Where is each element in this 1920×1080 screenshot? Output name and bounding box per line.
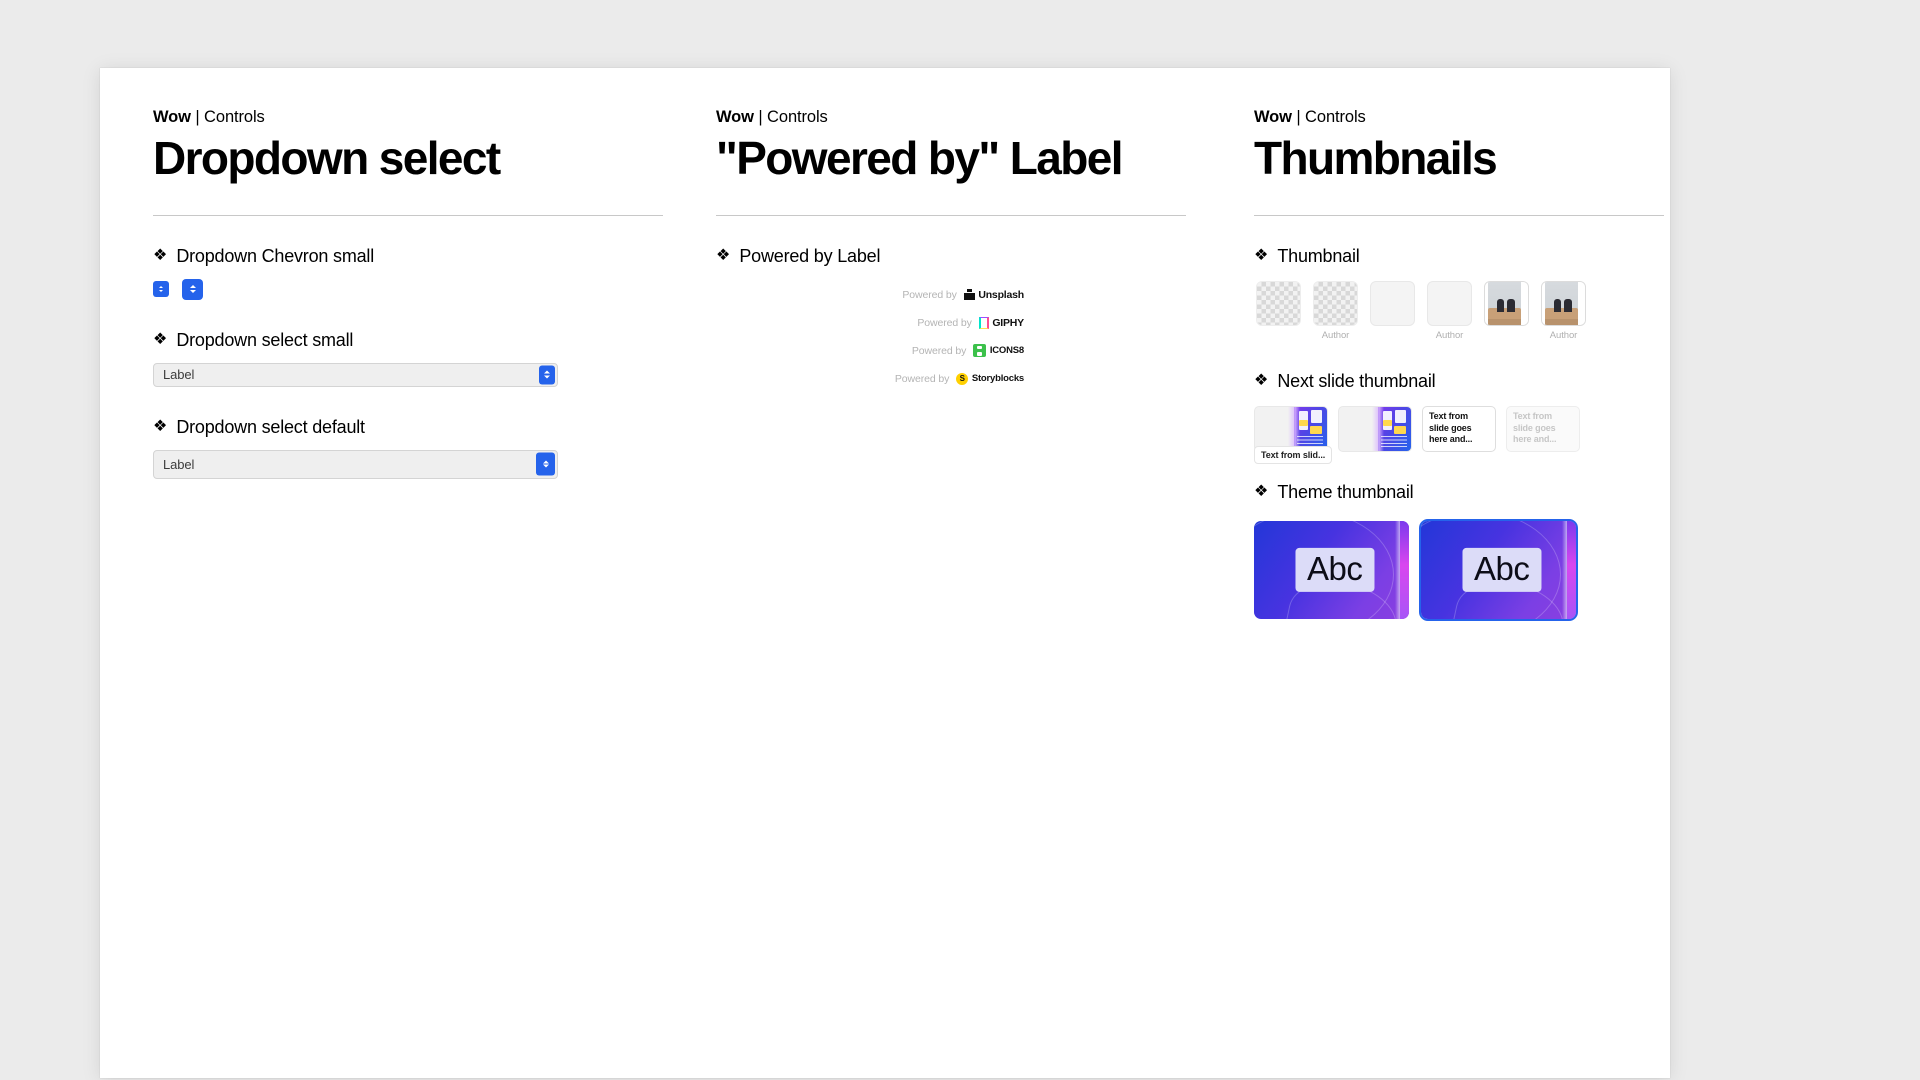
next-slide-caption: Text from slid... bbox=[1254, 446, 1332, 464]
theme-edge-gradient bbox=[1400, 521, 1409, 619]
theme-thumbnail[interactable]: Abc bbox=[1254, 521, 1409, 619]
dropdown-select-small-value: Label bbox=[154, 367, 194, 382]
giphy-logo-icon bbox=[979, 317, 989, 329]
dropdown-stepper-button[interactable] bbox=[539, 365, 555, 384]
breadcrumb-brand: Wow bbox=[716, 108, 754, 126]
section-label: Thumbnail bbox=[1277, 246, 1359, 267]
thumbnail-photo[interactable] bbox=[1541, 281, 1586, 326]
thumbnail-placeholder-empty[interactable] bbox=[1427, 281, 1472, 326]
section-powered-by-label: ❖ Powered by Label bbox=[716, 246, 1186, 267]
theme-sample-text: Abc bbox=[1462, 547, 1541, 591]
column-powered-by-label: Wow | Controls "Powered by" Label ❖ Powe… bbox=[716, 108, 1186, 619]
breadcrumb-section: Controls bbox=[1305, 108, 1366, 126]
page-title: "Powered by" Label bbox=[716, 133, 1186, 185]
divider bbox=[1254, 215, 1664, 216]
powered-by-row-storyblocks: Powered by S Storyblocks bbox=[716, 365, 1186, 393]
diamond-bullet-icon: ❖ bbox=[153, 248, 167, 264]
giphy-brand[interactable]: GIPHY bbox=[979, 317, 1024, 329]
slide-artwork bbox=[1378, 407, 1411, 451]
section-dropdown-select-default: ❖ Dropdown select default bbox=[153, 417, 663, 438]
chevron-updown-icon bbox=[159, 286, 163, 291]
chevron-updown-icon bbox=[543, 460, 549, 468]
next-slide-text: Text from slide goes here and... bbox=[1429, 411, 1489, 446]
next-slide-text-card-muted[interactable]: Text from slide goes here and... bbox=[1506, 406, 1580, 452]
powered-by-row-icons8: Powered by ICONS8 bbox=[716, 337, 1186, 365]
diamond-bullet-icon: ❖ bbox=[1254, 484, 1268, 500]
chevron-updown-icon bbox=[190, 285, 196, 293]
thumbnail-placeholder-checker[interactable] bbox=[1256, 281, 1301, 326]
icons8-brand[interactable]: ICONS8 bbox=[973, 344, 1024, 357]
photo-image bbox=[1542, 282, 1585, 325]
thumbnail-row: Author Author bbox=[1254, 281, 1664, 341]
icons8-brand-name: ICONS8 bbox=[990, 345, 1024, 356]
thumbnail-placeholder-checker[interactable] bbox=[1313, 281, 1358, 326]
breadcrumb-brand: Wow bbox=[153, 108, 191, 126]
divider bbox=[153, 215, 663, 216]
unsplash-brand-name: Unsplash bbox=[978, 289, 1024, 301]
powered-by-prefix: Powered by bbox=[895, 373, 949, 385]
icons8-logo-icon bbox=[973, 344, 986, 357]
section-label: Theme thumbnail bbox=[1277, 482, 1413, 503]
thumbnail-photo[interactable] bbox=[1484, 281, 1529, 326]
next-slide-item[interactable]: Text from slid... bbox=[1254, 406, 1328, 452]
next-slide-preview[interactable] bbox=[1254, 406, 1328, 452]
chevron-button-row bbox=[153, 279, 663, 300]
diamond-bullet-icon: ❖ bbox=[716, 248, 730, 264]
storyblocks-brand-name: Storyblocks bbox=[972, 373, 1024, 384]
section-label: Powered by Label bbox=[739, 246, 880, 267]
page-title: Dropdown select bbox=[153, 133, 663, 185]
next-slide-item[interactable]: Text from slide goes here and... bbox=[1506, 406, 1580, 452]
unsplash-brand[interactable]: Unsplash bbox=[964, 289, 1024, 301]
breadcrumb-brand: Wow bbox=[1254, 108, 1292, 126]
thumbnail-item[interactable] bbox=[1254, 281, 1303, 326]
powered-by-prefix: Powered by bbox=[912, 345, 966, 357]
dropdown-select-small[interactable]: Label bbox=[153, 363, 558, 387]
section-label: Next slide thumbnail bbox=[1277, 371, 1435, 392]
thumbnail-item[interactable]: Author bbox=[1425, 281, 1474, 341]
storyblocks-brand[interactable]: S Storyblocks bbox=[956, 373, 1024, 385]
dropdown-stepper-button[interactable] bbox=[536, 453, 555, 476]
next-slide-text: Text from slide goes here and... bbox=[1513, 411, 1573, 446]
page-title: Thumbnails bbox=[1254, 133, 1664, 185]
design-canvas: Wow | Controls Dropdown select ❖ Dropdow… bbox=[100, 68, 1670, 1078]
thumbnail-item[interactable]: Author bbox=[1311, 281, 1360, 341]
breadcrumb-separator: | bbox=[191, 108, 204, 126]
breadcrumb-section: Controls bbox=[204, 108, 265, 126]
next-slide-thumbnail-row: Text from slid... Text from slide goes h… bbox=[1254, 406, 1664, 452]
diamond-bullet-icon: ❖ bbox=[153, 332, 167, 348]
thumbnail-item[interactable]: Author bbox=[1539, 281, 1588, 341]
next-slide-text-card[interactable]: Text from slide goes here and... bbox=[1422, 406, 1496, 452]
theme-thumbnail-row: Abc Abc bbox=[1254, 521, 1664, 619]
diamond-bullet-icon: ❖ bbox=[1254, 248, 1268, 264]
thumbnail-author-label: Author bbox=[1550, 330, 1577, 341]
powered-by-prefix: Powered by bbox=[902, 289, 956, 301]
theme-edge-gradient bbox=[1567, 521, 1576, 619]
section-dropdown-chevron-small: ❖ Dropdown Chevron small bbox=[153, 246, 663, 267]
storyblocks-logo-icon: S bbox=[956, 373, 968, 385]
thumbnail-item[interactable] bbox=[1368, 281, 1417, 326]
thumbnail-item[interactable] bbox=[1482, 281, 1531, 326]
section-label: Dropdown Chevron small bbox=[176, 246, 374, 267]
diamond-bullet-icon: ❖ bbox=[1254, 373, 1268, 389]
diamond-bullet-icon: ❖ bbox=[153, 419, 167, 435]
theme-thumbnail-selected[interactable]: Abc bbox=[1421, 521, 1576, 619]
divider bbox=[716, 215, 1186, 216]
column-dropdown-select: Wow | Controls Dropdown select ❖ Dropdow… bbox=[153, 108, 663, 619]
slide-artwork bbox=[1294, 407, 1327, 451]
powered-by-row-unsplash: Powered by Unsplash bbox=[716, 281, 1186, 309]
breadcrumb: Wow | Controls bbox=[716, 108, 1186, 127]
section-label: Dropdown select default bbox=[176, 417, 365, 438]
section-next-slide-thumbnail: ❖ Next slide thumbnail bbox=[1254, 371, 1664, 392]
breadcrumb: Wow | Controls bbox=[153, 108, 663, 127]
next-slide-item[interactable] bbox=[1338, 406, 1412, 452]
breadcrumb-section: Controls bbox=[767, 108, 828, 126]
section-thumbnail: ❖ Thumbnail bbox=[1254, 246, 1664, 267]
thumbnail-author-label: Author bbox=[1436, 330, 1463, 341]
chevron-updown-icon bbox=[544, 371, 550, 379]
next-slide-preview[interactable] bbox=[1338, 406, 1412, 452]
section-dropdown-select-small: ❖ Dropdown select small bbox=[153, 330, 663, 351]
breadcrumb: Wow | Controls bbox=[1254, 108, 1664, 127]
powered-by-row-giphy: Powered by GIPHY bbox=[716, 309, 1186, 337]
theme-sample-text: Abc bbox=[1295, 547, 1374, 591]
thumbnail-placeholder-empty[interactable] bbox=[1370, 281, 1415, 326]
column-thumbnails: Wow | Controls Thumbnails ❖ Thumbnail Au… bbox=[1254, 108, 1664, 619]
dropdown-select-default-value: Label bbox=[154, 457, 194, 472]
breadcrumb-separator: | bbox=[754, 108, 767, 126]
giphy-brand-name: GIPHY bbox=[992, 317, 1024, 329]
breadcrumb-separator: | bbox=[1292, 108, 1305, 126]
chevron-stepper-button-large[interactable] bbox=[182, 279, 203, 300]
unsplash-logo-icon bbox=[964, 289, 975, 300]
photo-image bbox=[1485, 282, 1528, 325]
columns-container: Wow | Controls Dropdown select ❖ Dropdow… bbox=[100, 68, 1670, 619]
chevron-stepper-button-small[interactable] bbox=[153, 281, 169, 297]
next-slide-item[interactable]: Text from slide goes here and... bbox=[1422, 406, 1496, 452]
powered-by-list: Powered by Unsplash Powered by GIPHY Pow… bbox=[716, 281, 1186, 393]
thumbnail-author-label: Author bbox=[1322, 330, 1349, 341]
powered-by-prefix: Powered by bbox=[917, 317, 971, 329]
section-label: Dropdown select small bbox=[176, 330, 353, 351]
section-theme-thumbnail: ❖ Theme thumbnail bbox=[1254, 482, 1664, 503]
dropdown-select-default[interactable]: Label bbox=[153, 450, 558, 479]
